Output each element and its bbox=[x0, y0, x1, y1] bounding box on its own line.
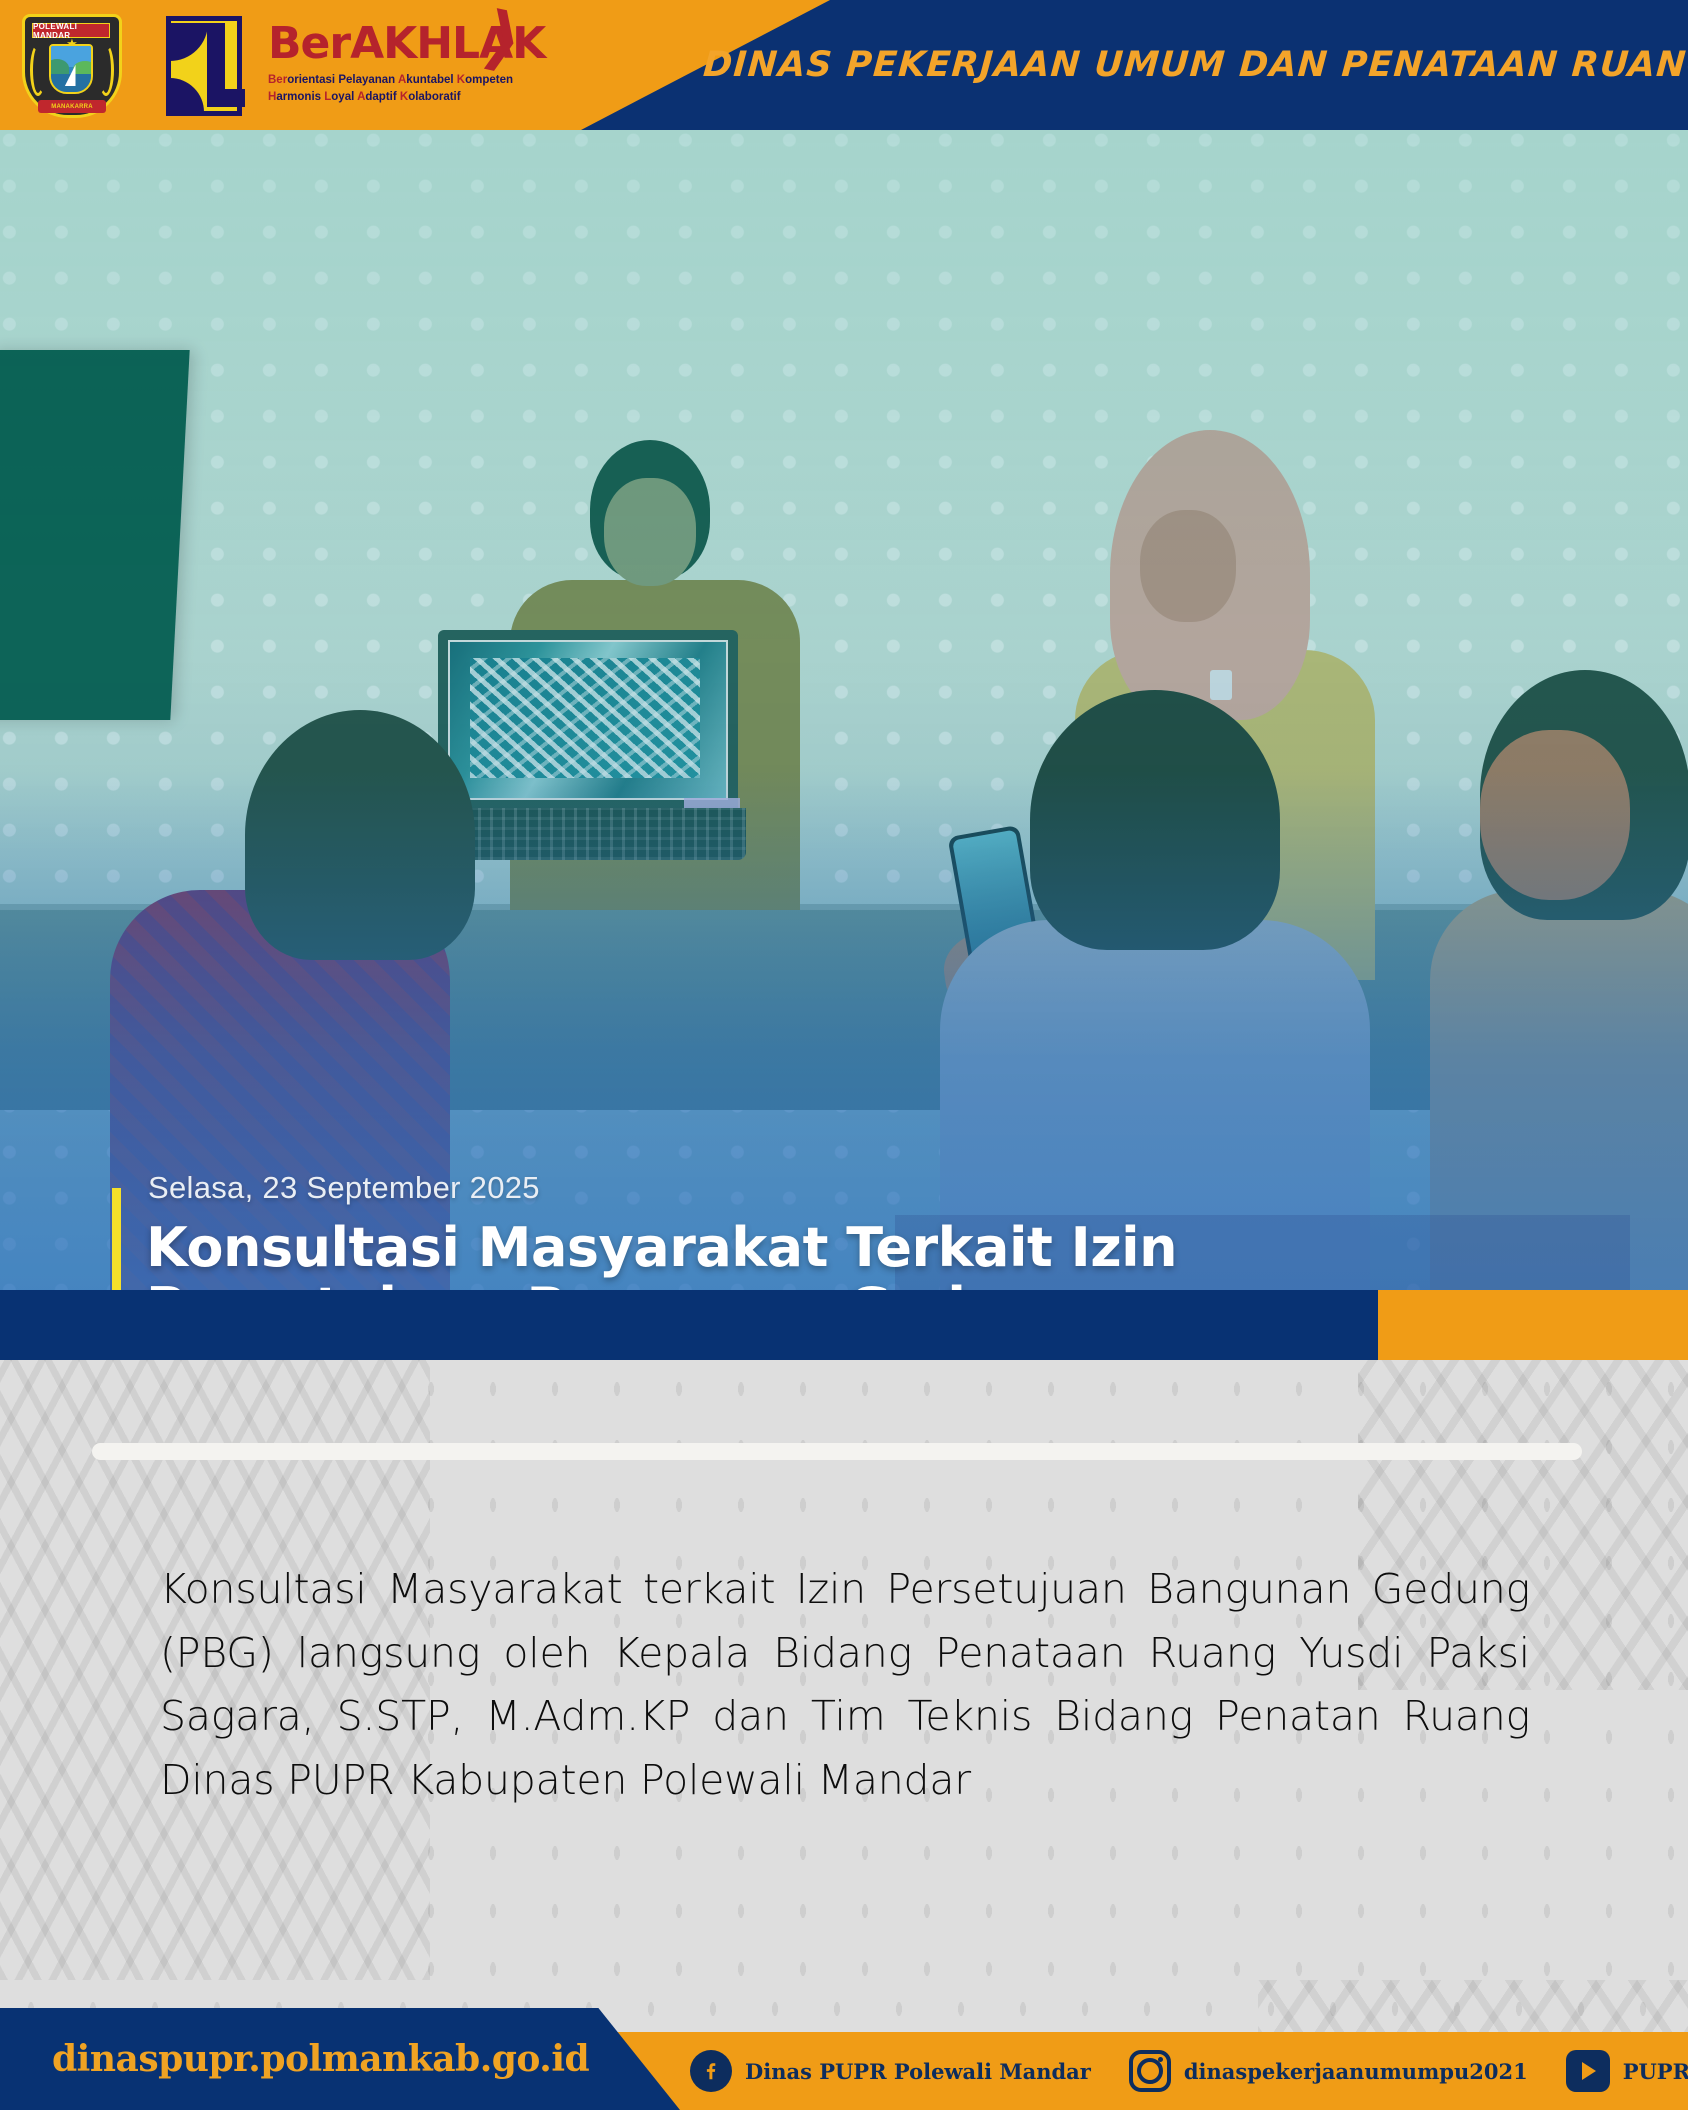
crest-emblem bbox=[49, 44, 93, 94]
hero-date: Selasa, 23 September 2025 bbox=[148, 1170, 1592, 1206]
pu-logo-mark-icon bbox=[171, 21, 237, 111]
footer-texture-right bbox=[1258, 1980, 1688, 2040]
facebook-icon bbox=[690, 2050, 732, 2092]
content-divider-bar bbox=[92, 1443, 1582, 1460]
crest-ribbon: MANAKARRA bbox=[38, 100, 106, 113]
hero-title: Konsultasi Masyarakat Terkait Izin Perse… bbox=[146, 1218, 1546, 1290]
footer-bar: dinaspupr.polmankab.go.id Dinas PUPR Pol… bbox=[0, 1980, 1688, 2110]
footer-social-links: Dinas PUPR Polewali Mandar dinaspekerjaa… bbox=[690, 2040, 1688, 2102]
header-bar: POLEWALI MANDAR ★ MANAKARRA bbox=[0, 0, 1688, 130]
social-label-youtube: PUPR Polewali Mandar bbox=[1623, 2059, 1688, 2084]
berakhlak-logo: BerAKHLAK ❯ Berorientasi Pelayanan Akunt… bbox=[268, 22, 558, 122]
regency-crest-logo: POLEWALI MANDAR ★ MANAKARRA bbox=[22, 14, 122, 118]
crest-wreath-right-icon bbox=[98, 44, 114, 96]
body-paragraph: Konsultasi Masyarakat terkait Izin Perse… bbox=[160, 1558, 1530, 1812]
berakhlak-tagline: Berorientasi Pelayanan Akuntabel Kompete… bbox=[268, 72, 558, 105]
footer-website-url[interactable]: dinaspupr.polmankab.go.id bbox=[52, 2038, 589, 2080]
youtube-icon bbox=[1566, 2050, 1610, 2092]
social-link-instagram[interactable]: dinaspekerjaanumumpu2021 bbox=[1129, 2050, 1528, 2092]
hero-text-overlay: Selasa, 23 September 2025 Konsultasi Mas… bbox=[112, 1170, 1592, 1290]
divider-band-orange bbox=[1378, 1290, 1688, 1360]
pu-logo bbox=[166, 16, 242, 116]
social-link-youtube[interactable]: PUPR Polewali Mandar bbox=[1566, 2050, 1688, 2092]
social-label-instagram: dinaspekerjaanumumpu2021 bbox=[1184, 2059, 1528, 2084]
social-label-facebook: Dinas PUPR Polewali Mandar bbox=[745, 2059, 1091, 2084]
berakhlak-tagline-line2: Harmonis Loyal Adaptif Kolaboratif bbox=[268, 89, 558, 106]
instagram-icon bbox=[1129, 2050, 1171, 2092]
header-title: DINAS PEKERJAAN UMUM DAN PENATAAN RUANG bbox=[755, 0, 1664, 130]
hero-photo: Selasa, 23 September 2025 Konsultasi Mas… bbox=[0, 130, 1688, 1290]
crest-wreath-left-icon bbox=[30, 44, 46, 96]
social-link-facebook[interactable]: Dinas PUPR Polewali Mandar bbox=[690, 2050, 1091, 2092]
hero-accent-bar bbox=[112, 1188, 121, 1290]
berakhlak-tagline-line1: Berorientasi Pelayanan Akuntabel Kompete… bbox=[268, 72, 558, 89]
divider-band-navy bbox=[0, 1290, 1378, 1360]
poster-root: POLEWALI MANDAR ★ MANAKARRA bbox=[0, 0, 1688, 2110]
